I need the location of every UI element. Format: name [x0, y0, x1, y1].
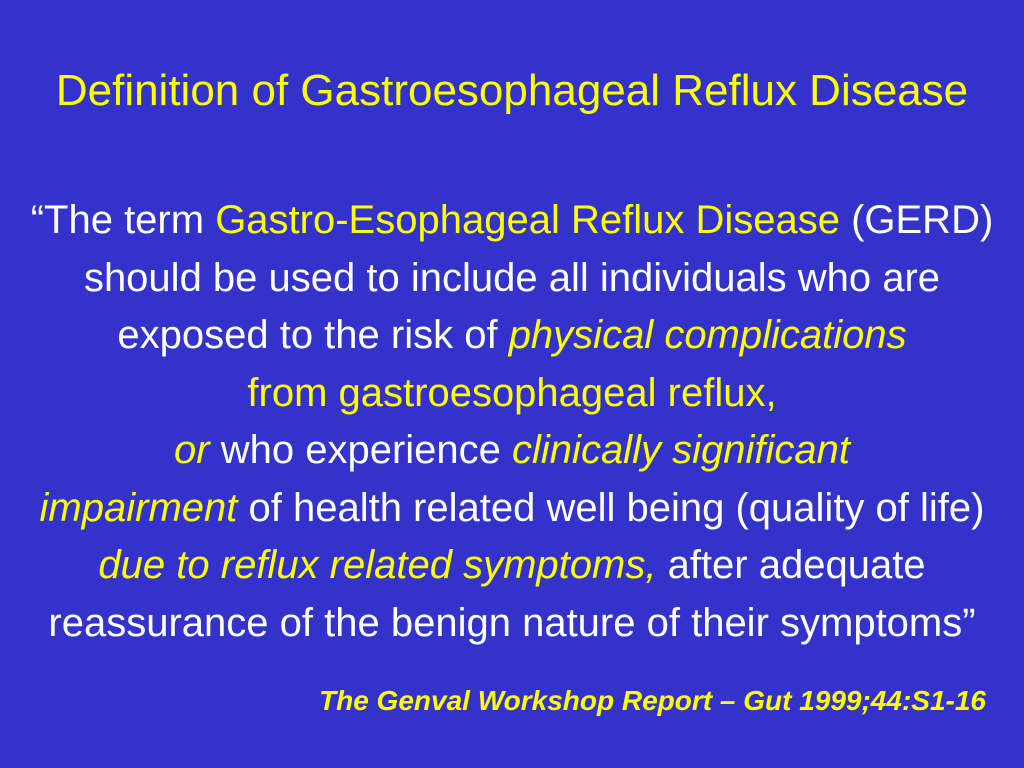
quote-line-2: should be used to include all individual…	[0, 250, 1024, 308]
quote-line-5-part-b: who experience	[210, 428, 512, 472]
quote-line-5-highlight-a: or	[174, 428, 210, 472]
quote-line-3-part-a: exposed to the risk of	[117, 313, 508, 357]
quote-line-3: exposed to the risk of physical complica…	[0, 307, 1024, 365]
quote-line-1-highlight: Gastro-Esophageal Reflux Disease	[215, 198, 840, 242]
quote-line-1-part-c: (GERD)	[840, 198, 993, 242]
quote-line-1: “The term Gastro-Esophageal Reflux Disea…	[0, 192, 1024, 250]
quote-line-5: or who experience clinically significant	[0, 422, 1024, 480]
quote-line-5-highlight-c: clinically significant	[512, 428, 850, 472]
quote-line-6-highlight: impairment	[40, 486, 238, 530]
quote-line-8-part-a: reassurance of the benign nature of thei…	[48, 601, 975, 645]
quote-line-8: reassurance of the benign nature of thei…	[0, 595, 1024, 653]
source-citation: The Genval Workshop Report – Gut 1999;44…	[0, 684, 1024, 718]
quote-line-2-part-a: should be used to include all individual…	[84, 256, 940, 300]
quote-line-6: impairment of health related well being …	[0, 480, 1024, 538]
quote-line-7-part-b: after adequate	[656, 543, 925, 587]
quote-line-7: due to reflux related symptoms, after ad…	[0, 537, 1024, 595]
quote-line-6-part-b: of health related well being (quality of…	[237, 486, 984, 530]
quote-line-7-highlight: due to reflux related symptoms,	[98, 543, 656, 587]
quote-line-4-highlight: from gastroesophageal reflux,	[247, 371, 776, 415]
quote-line-3-highlight: physical complications	[509, 313, 907, 357]
page-title: Definition of Gastroesophageal Reflux Di…	[0, 65, 1024, 117]
slide-canvas: Definition of Gastroesophageal Reflux Di…	[0, 0, 1024, 768]
quote-body: “The term Gastro-Esophageal Reflux Disea…	[0, 192, 1024, 652]
quote-line-1-part-a: “The term	[31, 198, 215, 242]
quote-line-4: from gastroesophageal reflux,	[0, 365, 1024, 423]
